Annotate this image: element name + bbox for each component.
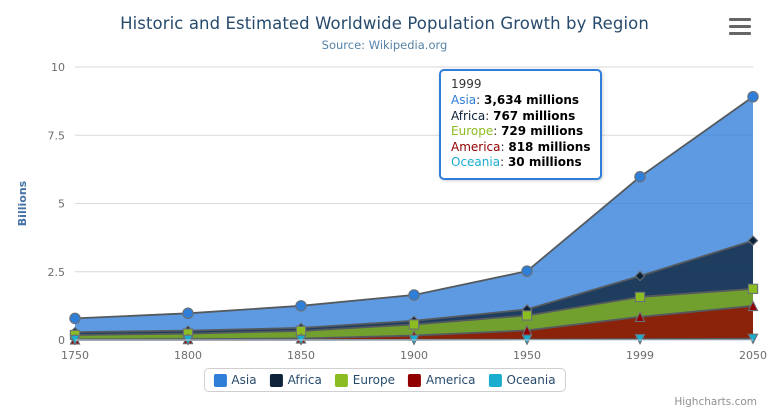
legend-swatch-icon [408,374,421,387]
x-axis-tick-label: 2050 [739,349,767,362]
legend-item-europe[interactable]: Europe [335,373,395,387]
y-axis-tick-label: 2.5 [48,266,66,279]
legend-label: Europe [353,373,395,387]
tooltip-series-value: 767 millions [493,109,575,123]
legend-item-asia[interactable]: Asia [213,373,256,387]
data-point-asia[interactable] [635,172,645,182]
x-axis-tick-label: 1800 [174,349,202,362]
tooltip-row-europe: Europe: 729 millions [451,124,590,140]
chart-legend: AsiaAfricaEuropeAmericaOceania [203,368,565,392]
tooltip-series-name: Europe [451,124,493,138]
x-axis-tick-label: 1950 [513,349,541,362]
data-point-asia[interactable] [409,290,419,300]
legend-label: Asia [231,373,256,387]
tooltip-row-africa: Africa: 767 millions [451,109,590,125]
tooltip-series-value: 3,634 millions [484,93,579,107]
data-point-asia[interactable] [183,308,193,318]
x-axis-tick-label: 1850 [287,349,315,362]
tooltip-row-america: America: 818 millions [451,140,590,156]
y-axis-tick-label: 7.5 [48,129,66,142]
tooltip-series-name: America [451,140,501,154]
tooltip-series-name: Asia [451,93,476,107]
legend-item-oceania[interactable]: Oceania [489,373,556,387]
legend-item-africa[interactable]: Africa [270,373,322,387]
data-point-europe[interactable] [409,320,418,329]
data-point-europe[interactable] [635,292,644,301]
tooltip-series-name: Africa [451,109,485,123]
data-point-europe[interactable] [748,284,757,293]
legend-label: Africa [288,373,322,387]
legend-swatch-icon [335,374,348,387]
legend-swatch-icon [489,374,502,387]
data-point-asia[interactable] [748,92,758,102]
plot-area: 02.557.510Billions1750180018501900195019… [0,0,769,416]
data-point-asia[interactable] [296,301,306,311]
tooltip-series-value: 818 millions [508,140,590,154]
y-axis-tick-label: 10 [51,61,65,74]
data-point-asia[interactable] [70,313,80,323]
series-tooltip: 1999 Asia: 3,634 millionsAfrica: 767 mil… [439,69,602,180]
y-axis-tick-label: 0 [58,334,65,347]
x-axis-tick-label: 1900 [400,349,428,362]
y-axis-tick-label: 5 [58,198,65,211]
y-axis-title: Billions [16,180,29,226]
legend-item-america[interactable]: America [408,373,476,387]
legend-swatch-icon [213,374,226,387]
x-axis-tick-label: 1999 [626,349,654,362]
legend-label: America [426,373,476,387]
data-point-asia[interactable] [522,266,532,276]
legend-label: Oceania [507,373,556,387]
tooltip-series-value: 729 millions [501,124,583,138]
tooltip-series-value: 30 millions [508,155,582,169]
tooltip-series-name: Oceania [451,155,500,169]
highcharts-container: Historic and Estimated Worldwide Populat… [0,0,769,416]
tooltip-row-oceania: Oceania: 30 millions [451,155,590,171]
highcharts-credit[interactable]: Highcharts.com [674,396,757,408]
tooltip-row-asia: Asia: 3,634 millions [451,93,590,109]
tooltip-header: 1999 [451,77,590,91]
data-point-europe[interactable] [522,311,531,320]
legend-swatch-icon [270,374,283,387]
x-axis-tick-label: 1750 [61,349,89,362]
